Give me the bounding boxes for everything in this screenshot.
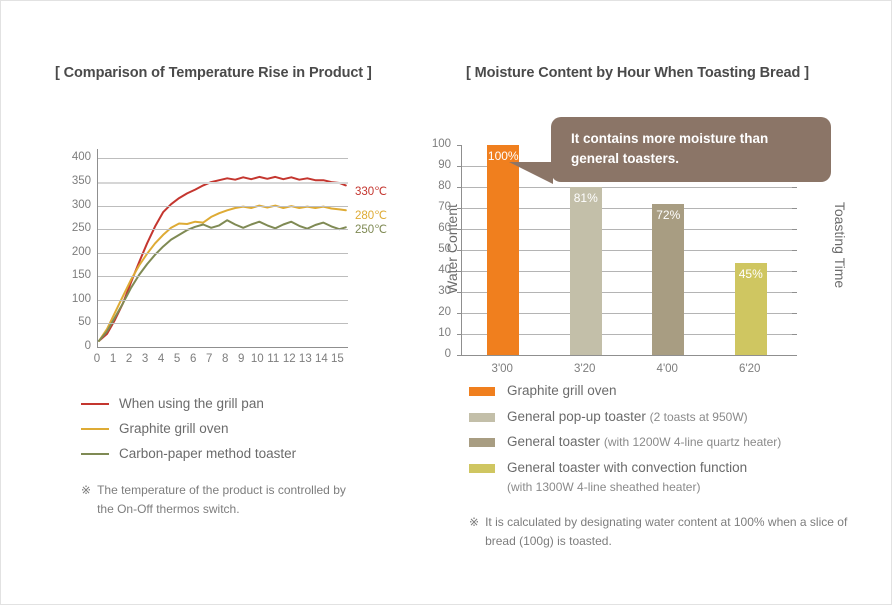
series-end-label: 330℃ [355,184,387,198]
y-tick-label: 350 [57,175,91,187]
legend-line-swatch [81,453,109,455]
legend-color-swatch [469,464,495,473]
y-tick-label: 60 [421,222,451,234]
bar: 45% [735,263,767,355]
y-tick-label: 20 [421,306,451,318]
legend-label-sub: (2 toasts at 950W) [650,410,748,424]
footnote-mark: ※ [81,483,91,497]
line-plot-area [97,149,348,348]
legend-color-swatch [469,387,495,396]
y-tick-label: 0 [57,340,91,352]
y-tick-label: 30 [421,285,451,297]
left-chart-title: [ Comparison of Temperature Rise in Prod… [55,65,372,81]
right-tick-mark [792,250,797,251]
right-tick-mark [792,334,797,335]
y-tick-label: 200 [57,246,91,258]
y-tick-label: 50 [57,316,91,328]
right-tick-mark [792,187,797,188]
y-tick-label: 40 [421,264,451,276]
right-tick-mark [792,208,797,209]
right-chart-legend: Graphite grill oven General pop-up toast… [469,381,879,503]
tooltip-tail [509,162,553,184]
y-tick-mark [457,292,462,293]
legend-label-main: General toaster [507,434,600,449]
legend-label: Graphite grill oven [119,421,229,436]
y-tick-mark [457,229,462,230]
legend-item: When using the grill pan [81,391,381,416]
legend-label: General pop-up toaster (2 toasts at 950W… [507,407,748,427]
left-chart-footnote: ※The temperature of the product is contr… [81,481,371,518]
legend-label: General toaster with convection function… [507,458,747,497]
y-tick-label: 50 [421,243,451,255]
x-tick-label: 4'00 [637,363,697,375]
y-tick-mark [457,208,462,209]
y-tick-label: 100 [57,293,91,305]
y-tick-mark [457,145,462,146]
legend-item: General toaster (with 1200W 4-line quart… [469,432,879,452]
bar: 72% [652,204,684,355]
right-tick-mark [792,229,797,230]
y-tick-label: 150 [57,269,91,281]
gridline [98,158,348,159]
x-tick-label: 3'00 [472,363,532,375]
y-tick-label: 70 [421,201,451,213]
y-tick-mark [457,187,462,188]
legend-item: Graphite grill oven [469,381,879,401]
footnote-text: The temperature of the product is contro… [97,481,347,518]
series-end-label: 280℃ [355,208,387,222]
y-tick-label: 80 [421,180,451,192]
right-tick-mark [792,271,797,272]
line-series-svg [98,149,350,349]
legend-label: When using the grill pan [119,396,264,411]
legend-label-main: Graphite grill oven [507,383,617,398]
x-tick-label: 15 [327,353,347,365]
legend-item: General pop-up toaster (2 toasts at 950W… [469,407,879,427]
legend-item: Graphite grill oven [81,416,381,441]
bar-value-label: 81% [570,191,602,205]
y-tick-label: 400 [57,151,91,163]
y-tick-label: 10 [421,327,451,339]
gridline [98,206,348,207]
bar: 81% [570,187,602,355]
legend-label: Carbon-paper method toaster [119,446,296,461]
legend-line-swatch [81,428,109,430]
right-chart-footnote: ※It is calculated by designating water c… [469,513,869,551]
legend-label-sub: (with 1300W 4-line sheathed heater) [507,480,700,494]
legend-color-swatch [469,438,495,447]
bar-value-label: 45% [735,267,767,281]
gridline [98,229,348,230]
gridline [98,276,348,277]
y-tick-label: 300 [57,199,91,211]
y-tick-label: 100 [421,138,451,150]
y-tick-mark [457,166,462,167]
x-tick-label: 6'20 [720,363,780,375]
gridline [98,323,348,324]
y-tick-label: 250 [57,222,91,234]
x-tick-label: 3'20 [555,363,615,375]
footnote-mark: ※ [469,515,479,529]
legend-label-main: General pop-up toaster [507,409,646,424]
series-end-label: 250℃ [355,222,387,236]
legend-item: Carbon-paper method toaster [81,441,381,466]
legend-label: Graphite grill oven [507,381,617,401]
right-tick-mark [792,292,797,293]
legend-label-main: General toaster with convection function [507,460,747,475]
left-chart-legend: When using the grill pan Graphite grill … [81,391,381,466]
y-tick-mark [457,334,462,335]
gridline [98,300,348,301]
bar-value-label: 72% [652,208,684,222]
tooltip-callout: It contains more moisture than general t… [551,117,831,182]
y-tick-label: 90 [421,159,451,171]
infographic-page: [ Comparison of Temperature Rise in Prod… [0,0,892,605]
legend-item: General toaster with convection function… [469,458,879,497]
legend-label: General toaster (with 1200W 4-line quart… [507,432,781,452]
y-tick-mark [457,271,462,272]
gridline [98,182,348,184]
y-tick-mark [457,250,462,251]
x-axis-title: Toasting Time [832,202,848,288]
bar-value-label: 100% [487,149,519,163]
right-tick-mark [792,313,797,314]
right-tick-mark [792,355,797,356]
y-tick-mark [457,355,462,356]
y-tick-mark [457,313,462,314]
gridline [98,253,348,254]
y-tick-label: 0 [421,348,451,360]
legend-color-swatch [469,413,495,422]
legend-label-sub: (with 1200W 4-line quartz heater) [604,435,781,449]
footnote-text: It is calculated by designating water co… [485,513,855,551]
temperature-line-chart: 0501001502002503003504000123456789101112… [57,141,387,366]
right-chart-title: [ Moisture Content by Hour When Toasting… [466,65,809,81]
legend-line-swatch [81,403,109,405]
